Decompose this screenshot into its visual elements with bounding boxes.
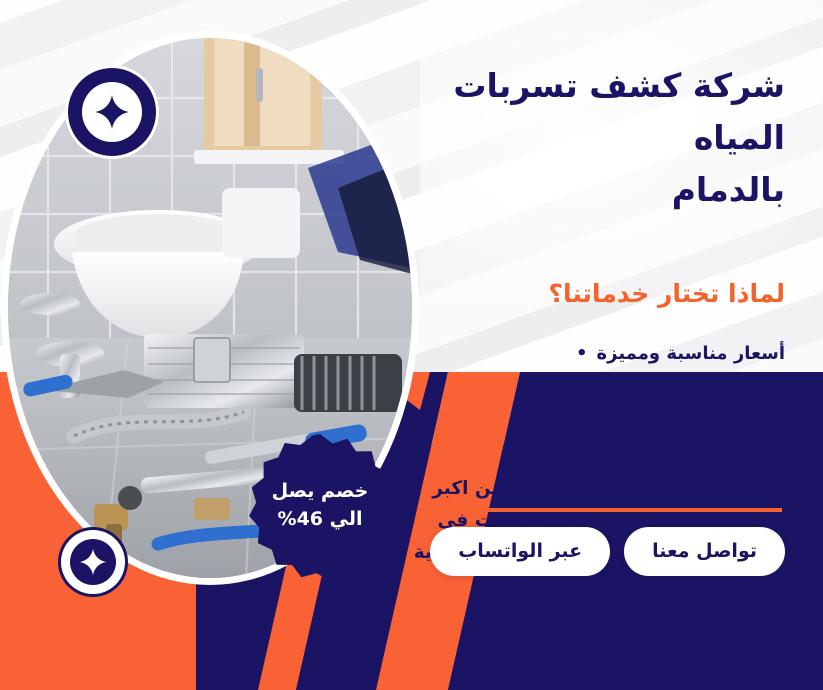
list-item: أسعار مناسبة ومميزة xyxy=(367,337,785,372)
logo-badge-top[interactable] xyxy=(68,68,156,156)
discount-line-1: خصم يصل xyxy=(272,478,369,506)
headline-line-1: شركة كشف تسربات المياه xyxy=(453,66,785,157)
benefits-list: أسعار مناسبة ومميزة أحدث الادوات والمعدا… xyxy=(367,337,785,441)
sparkle-star-icon xyxy=(94,94,130,130)
logo-badge-bottom[interactable] xyxy=(61,530,125,594)
sparkle-star-icon xyxy=(79,548,107,576)
content-column: شركة كشف تسربات المياه بالدمام لماذا تخت… xyxy=(367,60,785,569)
promo-banner: خصم يصل الي 46% شركة كشف تسربات المياه ب… xyxy=(0,0,823,690)
contact-us-button[interactable]: تواصل معنا xyxy=(624,527,785,576)
logo-inner-circle xyxy=(70,539,116,585)
discount-line-2: الي 46% xyxy=(278,506,363,534)
list-item: عروض وخصومات دائمة xyxy=(367,406,785,441)
whatsapp-button[interactable]: عبر الواتساب xyxy=(430,527,610,576)
page-title: شركة كشف تسربات المياه بالدمام xyxy=(367,60,785,216)
list-item: أحدث الادوات والمعدات xyxy=(367,371,785,406)
orange-divider xyxy=(424,508,782,512)
cta-button-group: تواصل معنا عبر الواتساب xyxy=(430,527,785,576)
logo-inner-circle xyxy=(82,82,142,142)
subheading: لماذا تختار خدماتنا؟ xyxy=(367,278,785,311)
headline-line-2: بالدمام xyxy=(672,170,785,209)
